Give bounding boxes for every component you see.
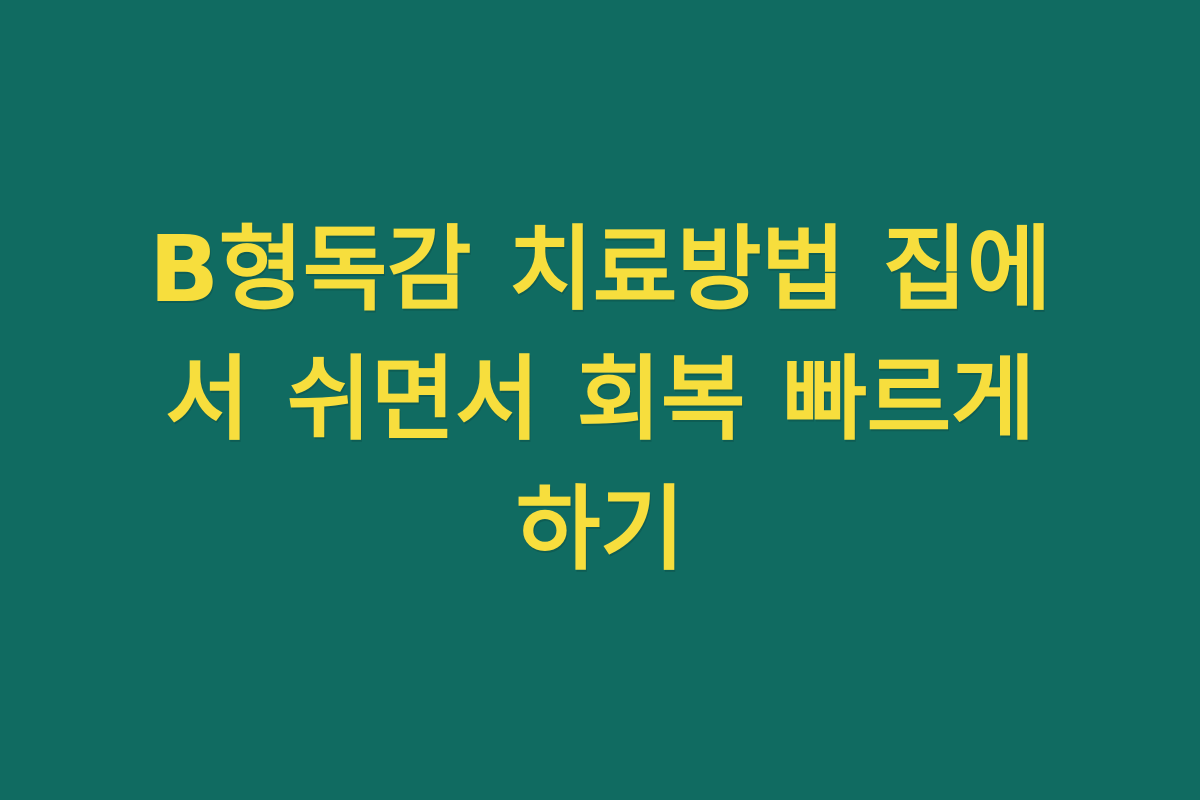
poster-canvas: B형독감 치료방법 집에 서 쉬면서 회복 빠르게 하기	[0, 0, 1200, 800]
page-title: B형독감 치료방법 집에 서 쉬면서 회복 빠르게 하기	[0, 205, 1200, 595]
headline-line-3: 하기	[110, 465, 1090, 595]
headline-line-1: B형독감 치료방법 집에	[110, 205, 1090, 335]
headline-line-2: 서 쉬면서 회복 빠르게	[110, 335, 1090, 465]
